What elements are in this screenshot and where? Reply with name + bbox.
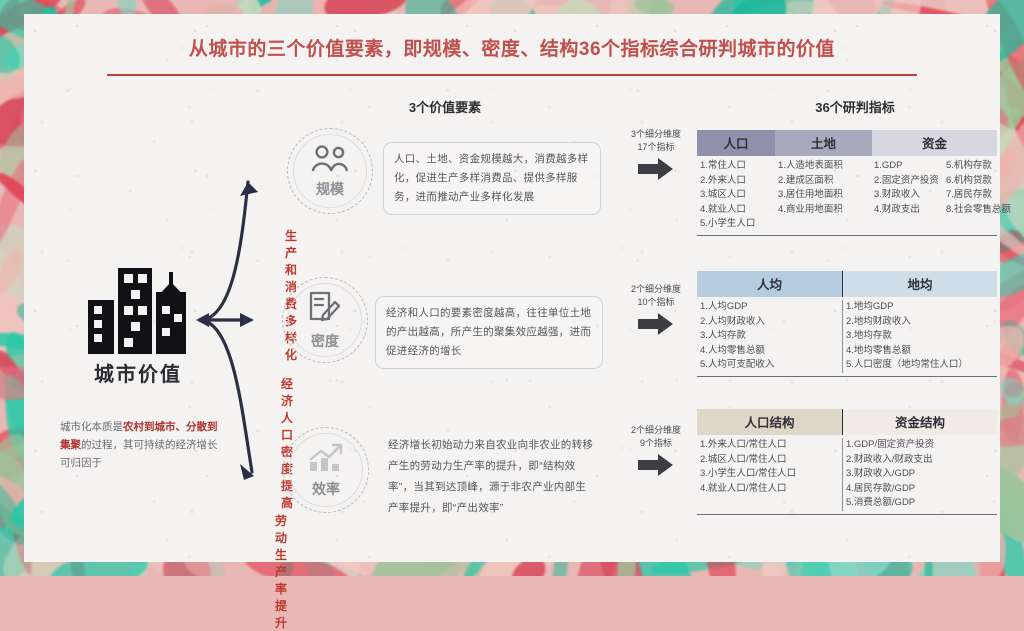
mid-note-3-line2: 9个指标 — [617, 437, 695, 450]
list-item: 5.机构存款 — [946, 159, 1011, 174]
table-col-header: 人口结构 — [697, 409, 842, 435]
element-outcome-efficiency: 劳动生产率提升 — [275, 512, 287, 631]
list-item: 4.就业人口 — [700, 203, 772, 218]
list-item: 2.城区人口/常住人口 — [700, 453, 839, 468]
list-item: 5.人口密度（地均常住人口） — [846, 358, 994, 373]
element-circle-scale: 规模 — [287, 128, 373, 214]
element-name-scale: 规模 — [316, 179, 344, 199]
indicator-table-population-land-capital: 人口 土地 资金 1.常住人口 2.外来人口 3.城区人口 4.就业人口 5.小… — [697, 130, 997, 236]
list-item: 5.消费总额/GDP — [846, 496, 994, 511]
list-item: 3.财政收入 — [874, 188, 946, 203]
list-item: 1.地均GDP — [846, 300, 994, 315]
list-item: 1.外来人口/常住人口 — [700, 438, 839, 453]
mid-note-2-line1: 2个细分维度 — [617, 283, 695, 296]
list-item: 2.外来人口 — [700, 174, 772, 189]
table-col-header: 土地 — [775, 130, 872, 156]
capital-sublist-a: 1.GDP 2.固定资产投资 3.财政收入 4.财政支出 — [874, 159, 946, 232]
mid-note-3: 2个细分维度 9个指标 — [617, 424, 695, 482]
list-item: 4.就业人口/常住人口 — [700, 482, 839, 497]
list-item: 7.居民存款 — [946, 188, 1011, 203]
element-circle-density: 密度 — [282, 277, 368, 363]
table-header-row: 人均 地均 — [697, 271, 997, 297]
table-header-row: 人口结构 资金结构 — [697, 409, 997, 435]
city-value-label: 城市价值 — [58, 358, 218, 387]
mid-note-3-line1: 2个细分维度 — [617, 424, 695, 437]
mid-note-2: 2个细分维度 10个指标 — [617, 283, 695, 341]
element-desc-density: 经济和人口的要素密度越高，往往单位土地的产出越高，所产生的聚集效应越强，进而促进… — [375, 296, 603, 369]
table-col-header: 人均 — [697, 271, 842, 297]
list-item: 4.居民存款/GDP — [846, 482, 994, 497]
list-item: 1.常住人口 — [700, 159, 772, 174]
table-cell-population-structure: 1.外来人口/常住人口 2.城区人口/常住人口 3.小学生人口/常住人口 4.就… — [697, 438, 842, 511]
document-pencil-icon — [307, 291, 343, 330]
list-item: 2.建成区面积 — [778, 174, 868, 189]
list-item: 8.社会零售总额 — [946, 203, 1011, 218]
table-header-row: 人口 土地 资金 — [697, 130, 997, 156]
element-name-density: 密度 — [311, 331, 339, 351]
list-item: 4.地均零售总额 — [846, 344, 994, 359]
list-item: 2.固定资产投资 — [874, 174, 946, 189]
list-item: 5.人均可支配收入 — [700, 358, 839, 373]
right-arrow-icon — [617, 157, 695, 186]
table-bottom-rule — [697, 376, 997, 377]
list-item: 1.GDP — [874, 159, 946, 174]
mid-note-2-line2: 10个指标 — [617, 296, 695, 309]
city-note-suffix: 的过程，其可持续的经济增长可归因于 — [60, 439, 218, 469]
title-underline — [107, 74, 917, 76]
table-cell-per-capita: 1.人均GDP 2.人均财政收入 3.人均存款 4.人均零售总额 5.人均可支配… — [697, 300, 842, 373]
table-body: 1.外来人口/常住人口 2.城区人口/常住人口 3.小学生人口/常住人口 4.就… — [697, 435, 997, 511]
page-title: 从城市的三个价值要素，即规模、密度、结构36个指标综合研判城市的价值 — [0, 34, 1024, 61]
right-arrow-icon — [617, 312, 695, 341]
bar-chart-growth-icon — [307, 443, 345, 478]
element-circle-efficiency: 效率 — [283, 427, 369, 513]
right-arrow-icon — [617, 453, 695, 482]
list-item: 3.小学生人口/常住人口 — [700, 467, 839, 482]
table-cell-capital-structure: 1.GDP/固定资产投资 2.财政收入/财政支出 3.财政收入/GDP 4.居民… — [843, 438, 997, 511]
list-item: 2.财政收入/财政支出 — [846, 453, 994, 468]
table-col-header: 资金结构 — [843, 409, 997, 435]
table-col-header: 资金 — [872, 130, 997, 156]
list-item: 5.小学生人口 — [700, 217, 772, 232]
table-col-header: 地均 — [843, 271, 997, 297]
list-item: 6.机构贷款 — [946, 174, 1011, 189]
table-col-header: 人口 — [697, 130, 775, 156]
list-item: 3.城区人口 — [700, 188, 772, 203]
list-item: 1.人均GDP — [700, 300, 839, 315]
list-item: 3.财政收入/GDP — [846, 467, 994, 482]
list-item: 3.地均存款 — [846, 329, 994, 344]
mid-note-1-line2: 17个指标 — [617, 141, 695, 154]
element-desc-scale: 人口、土地、资金规模越大，消费越多样化，促进生产多样消费品、提供多样服务，进而推… — [383, 142, 601, 215]
people-icon — [310, 145, 350, 178]
mid-note-1: 3个细分维度 17个指标 — [617, 128, 695, 186]
list-item: 2.人均财政收入 — [700, 315, 839, 330]
list-item: 4.人均零售总额 — [700, 344, 839, 359]
indicator-table-structure: 人口结构 资金结构 1.外来人口/常住人口 2.城区人口/常住人口 3.小学生人… — [697, 409, 997, 515]
list-item: 3.人均存款 — [700, 329, 839, 344]
element-name-efficiency: 效率 — [312, 479, 340, 499]
element-desc-efficiency: 经济增长初始动力来自农业向非农业的转移产生的劳动力生产率的提升，即“结构效率”，… — [378, 428, 606, 526]
section-header-indicators: 36个研判指标 — [755, 97, 955, 116]
table-cell-per-land: 1.地均GDP 2.地均财政收入 3.地均存款 4.地均零售总额 5.人口密度（… — [843, 300, 997, 373]
table-bottom-rule — [697, 514, 997, 515]
list-item: 1.人造地表面积 — [778, 159, 868, 174]
list-item: 4.商业用地面积 — [778, 203, 868, 218]
list-item: 4.财政支出 — [874, 203, 946, 218]
list-item: 3.居住用地面积 — [778, 188, 868, 203]
table-body: 1.常住人口 2.外来人口 3.城区人口 4.就业人口 5.小学生人口 1.人造… — [697, 156, 997, 232]
title-block: 从城市的三个价值要素，即规模、密度、结构36个指标综合研判城市的价值 — [0, 34, 1024, 76]
mid-note-1-line1: 3个细分维度 — [617, 128, 695, 141]
city-buildings-icon — [86, 268, 190, 354]
table-cell-land: 1.人造地表面积 2.建成区面积 3.居住用地面积 4.商业用地面积 — [775, 159, 871, 232]
table-body: 1.人均GDP 2.人均财政收入 3.人均存款 4.人均零售总额 5.人均可支配… — [697, 297, 997, 373]
section-header-elements: 3个价值要素 — [330, 97, 560, 116]
indicator-table-percapita-perland: 人均 地均 1.人均GDP 2.人均财政收入 3.人均存款 4.人均零售总额 5… — [697, 271, 997, 377]
capital-sublist-b: 5.机构存款 6.机构贷款 7.居民存款 8.社会零售总额 — [946, 159, 1011, 232]
table-cell-population: 1.常住人口 2.外来人口 3.城区人口 4.就业人口 5.小学生人口 — [697, 159, 775, 232]
table-bottom-rule — [697, 235, 997, 236]
city-value-group: 城市价值 — [58, 268, 218, 387]
list-item: 1.GDP/固定资产投资 — [846, 438, 994, 453]
city-note-prefix: 城市化本质是 — [60, 421, 123, 433]
table-cell-capital: 1.GDP 2.固定资产投资 3.财政收入 4.财政支出 5.机构存款 6.机构… — [871, 159, 1014, 232]
list-item: 2.地均财政收入 — [846, 315, 994, 330]
